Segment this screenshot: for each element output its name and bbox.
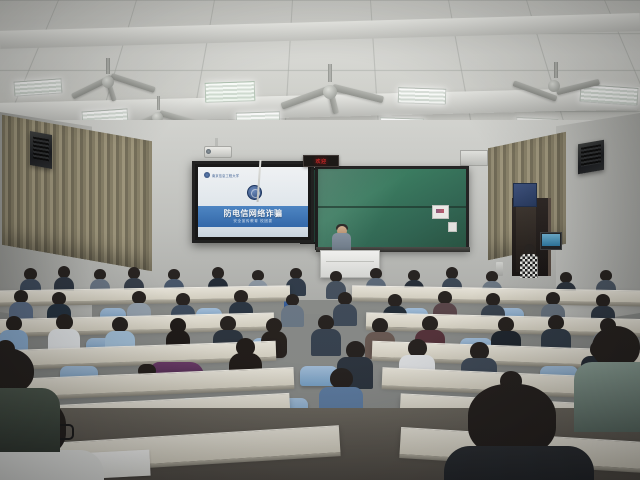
wall-monitor bbox=[540, 232, 562, 250]
wall-equipment-box bbox=[513, 183, 537, 207]
slide-title: 防电信网络诈骗 bbox=[198, 208, 308, 219]
projection-screen[interactable]: 南京信息工程大学 防电信网络诈骗 安全宣传教育 校团委 bbox=[192, 161, 314, 243]
presentation-slide: 南京信息工程大学 防电信网络诈骗 安全宣传教育 校团委 bbox=[198, 167, 308, 237]
led-display-text: 欢迎 bbox=[304, 156, 338, 166]
ceiling-fan bbox=[520, 62, 620, 114]
wall-notice bbox=[432, 205, 449, 219]
air-conditioner-vent bbox=[460, 150, 488, 166]
projector-lens-icon bbox=[206, 149, 211, 154]
wall-speaker-right bbox=[578, 140, 604, 175]
slide-subtitle: 安全宣传教育 校团委 bbox=[198, 219, 308, 224]
wall-speaker-left bbox=[30, 131, 52, 169]
ceiling-projector bbox=[204, 146, 232, 158]
left-window-curtain bbox=[2, 115, 152, 271]
lecture-hall-photo: 南京信息工程大学 防电信网络诈骗 安全宣传教育 校团委 欢迎 bbox=[0, 0, 640, 480]
slide-org-logo: 南京信息工程大学 bbox=[204, 172, 239, 178]
slide-org-logo-text: 南京信息工程大学 bbox=[212, 173, 239, 178]
logo-mark-icon bbox=[204, 172, 210, 178]
led-display-sign: 欢迎 bbox=[303, 155, 339, 167]
wall-outlet bbox=[448, 222, 457, 232]
